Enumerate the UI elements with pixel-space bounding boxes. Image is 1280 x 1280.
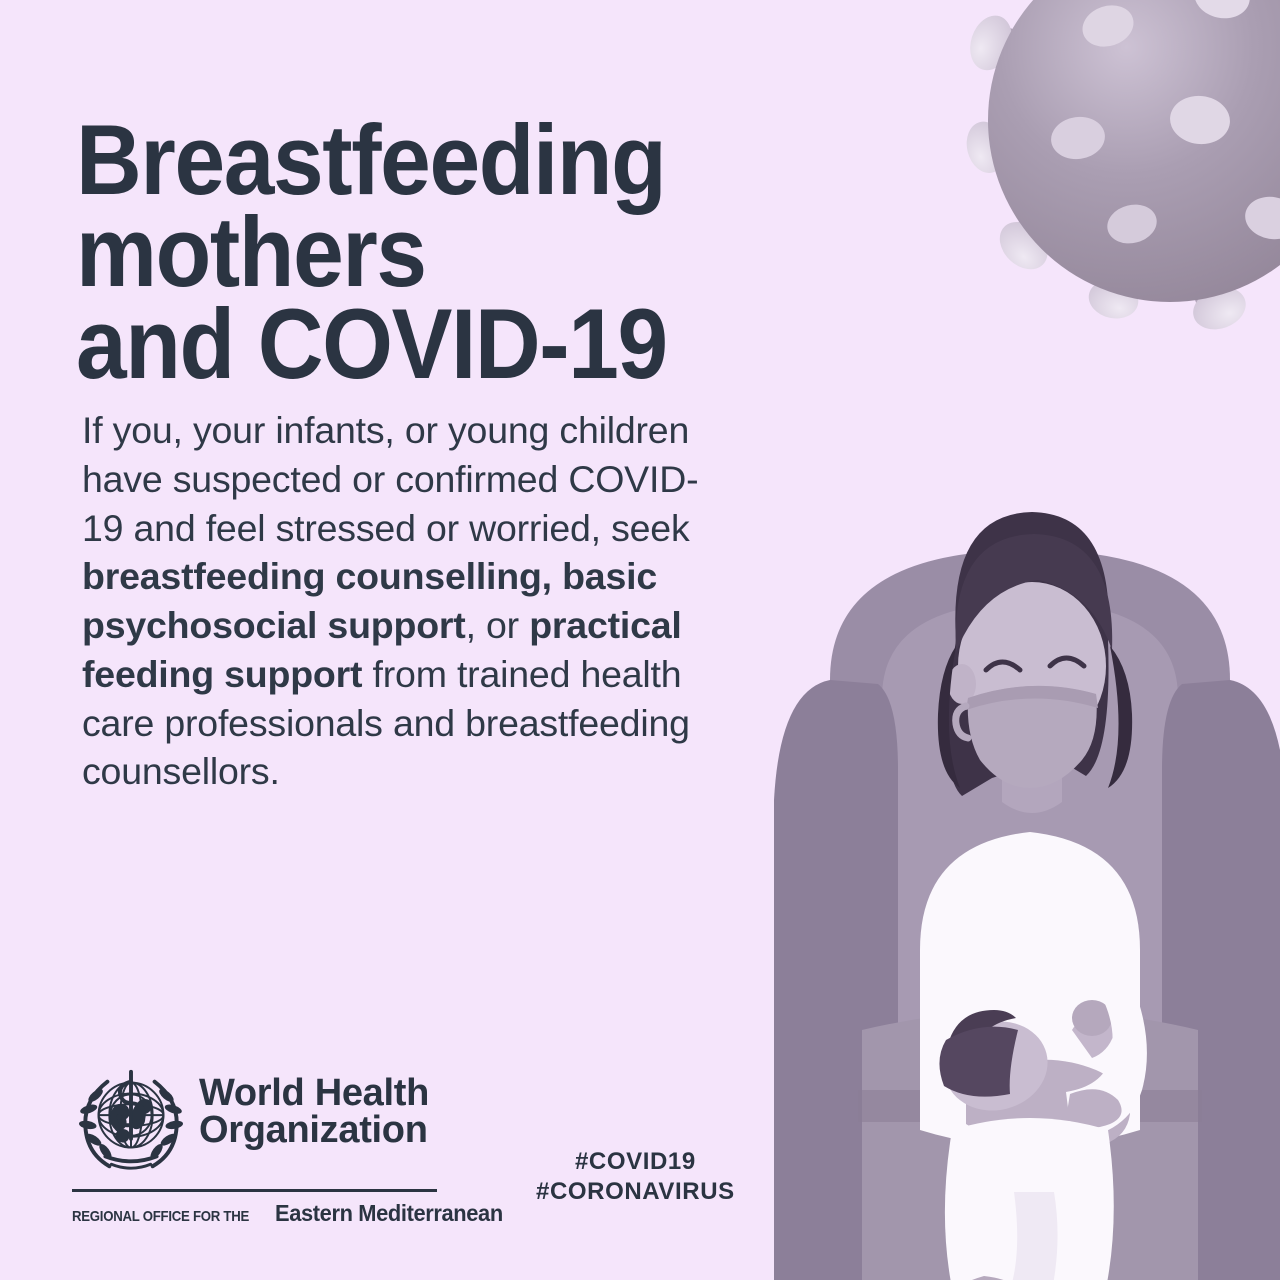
mother-top bbox=[920, 832, 1140, 1147]
armchair-back bbox=[830, 550, 1230, 1280]
mother-face bbox=[958, 582, 1106, 750]
body-segment-1: If you, your infants, or young children … bbox=[82, 409, 698, 549]
virus-spikes bbox=[961, 0, 1280, 336]
virus-body bbox=[988, 0, 1280, 302]
baby-arm bbox=[1072, 1009, 1116, 1058]
who-divider bbox=[72, 1189, 437, 1192]
page-title: Breastfeeding mothers and COVID-19 bbox=[76, 114, 1005, 390]
who-region-prefix: REGIONAL OFFICE FOR THE bbox=[72, 1208, 249, 1225]
face-mask-strap bbox=[956, 706, 968, 738]
mother-eye-right bbox=[1050, 658, 1084, 666]
who-logo-lockup: World Health Organization REGIONAL OFFIC… bbox=[72, 1062, 437, 1227]
face-mask bbox=[968, 686, 1097, 788]
mother-neck bbox=[1002, 730, 1062, 813]
mother-forearm-left bbox=[946, 1068, 1058, 1138]
mother-ear bbox=[948, 664, 976, 704]
face-mask-top-edge bbox=[966, 686, 1098, 710]
baby-hair bbox=[947, 1010, 1016, 1086]
hashtags: #COVID19 #CORONAVIRUS bbox=[536, 1147, 735, 1208]
mother-hair-front bbox=[956, 534, 1113, 652]
baby-hand bbox=[1072, 1000, 1112, 1036]
mother-hair-back bbox=[947, 512, 1108, 796]
armchair-left-wing bbox=[774, 680, 898, 1280]
mother-hair-side-left bbox=[938, 646, 960, 788]
who-region-name: Eastern Mediterranean bbox=[275, 1200, 503, 1227]
body-segment-3: , or bbox=[466, 604, 530, 646]
mother-breastfeeding-baby-illustration bbox=[770, 430, 1280, 1280]
mother-hair-side-right bbox=[1108, 646, 1132, 788]
who-name-line2: Organization bbox=[199, 1112, 429, 1149]
armchair-right-wing bbox=[1162, 680, 1280, 1280]
trouser-crease bbox=[1010, 1192, 1058, 1280]
baby-head bbox=[935, 1011, 1057, 1122]
mother-arm-left bbox=[920, 970, 1058, 1140]
mother-trousers bbox=[945, 1118, 1114, 1280]
virus-surface-nubs bbox=[1048, 0, 1280, 248]
armchair-seat-band bbox=[858, 1090, 1202, 1122]
mother-arm-right bbox=[1066, 962, 1147, 1140]
baby-body bbox=[966, 1060, 1130, 1149]
mother-eye-left bbox=[986, 662, 1020, 670]
mother-hand-right bbox=[1066, 1089, 1122, 1128]
body-paragraph: If you, your infants, or young children … bbox=[82, 406, 722, 796]
poster-canvas: Breastfeeding mothers and COVID-19 If yo… bbox=[0, 0, 1280, 1280]
armchair-back-inner bbox=[882, 602, 1178, 1130]
mother-foot bbox=[944, 1276, 1022, 1280]
who-emblem-icon bbox=[72, 1062, 190, 1180]
who-name-line1: World Health bbox=[199, 1075, 429, 1112]
armchair-seat bbox=[862, 1010, 1198, 1280]
baby-hair-mass bbox=[939, 1027, 1018, 1097]
